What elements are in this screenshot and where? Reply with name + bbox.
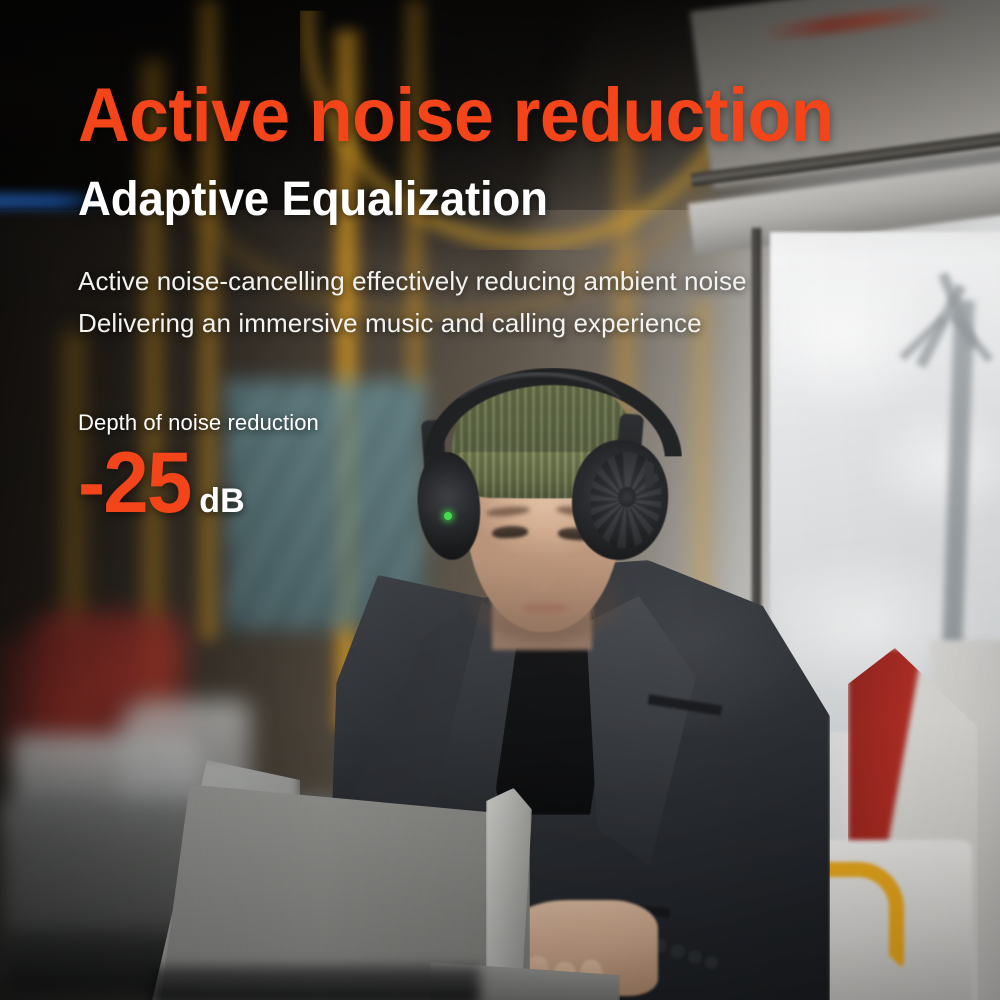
stat-value: -25: [78, 440, 190, 526]
nose: [529, 534, 555, 592]
headline: Active noise reduction: [78, 78, 929, 154]
stat-unit: dB: [199, 484, 244, 518]
feature-line: Active noise-cancelling effectively redu…: [78, 260, 983, 302]
stat-label: Depth of noise reduction: [78, 410, 983, 436]
subheadline: Adaptive Equalization: [78, 176, 938, 224]
stat-value-row: -25 dB: [78, 440, 983, 526]
feature-line: Delivering an immersive music and callin…: [78, 302, 983, 344]
feature-description-list: Active noise-cancelling effectively redu…: [78, 260, 983, 344]
marketing-copy-block: Active noise reduction Adaptive Equaliza…: [78, 78, 983, 526]
mouth: [522, 604, 568, 613]
laptop-shadow: [150, 966, 480, 1000]
coat-button: [705, 956, 718, 969]
product-feature-banner: Active noise reduction Adaptive Equaliza…: [0, 0, 1000, 1000]
coat-button: [670, 944, 685, 959]
noise-reduction-stat: Depth of noise reduction -25 dB: [78, 410, 983, 526]
coat-button: [688, 950, 702, 964]
